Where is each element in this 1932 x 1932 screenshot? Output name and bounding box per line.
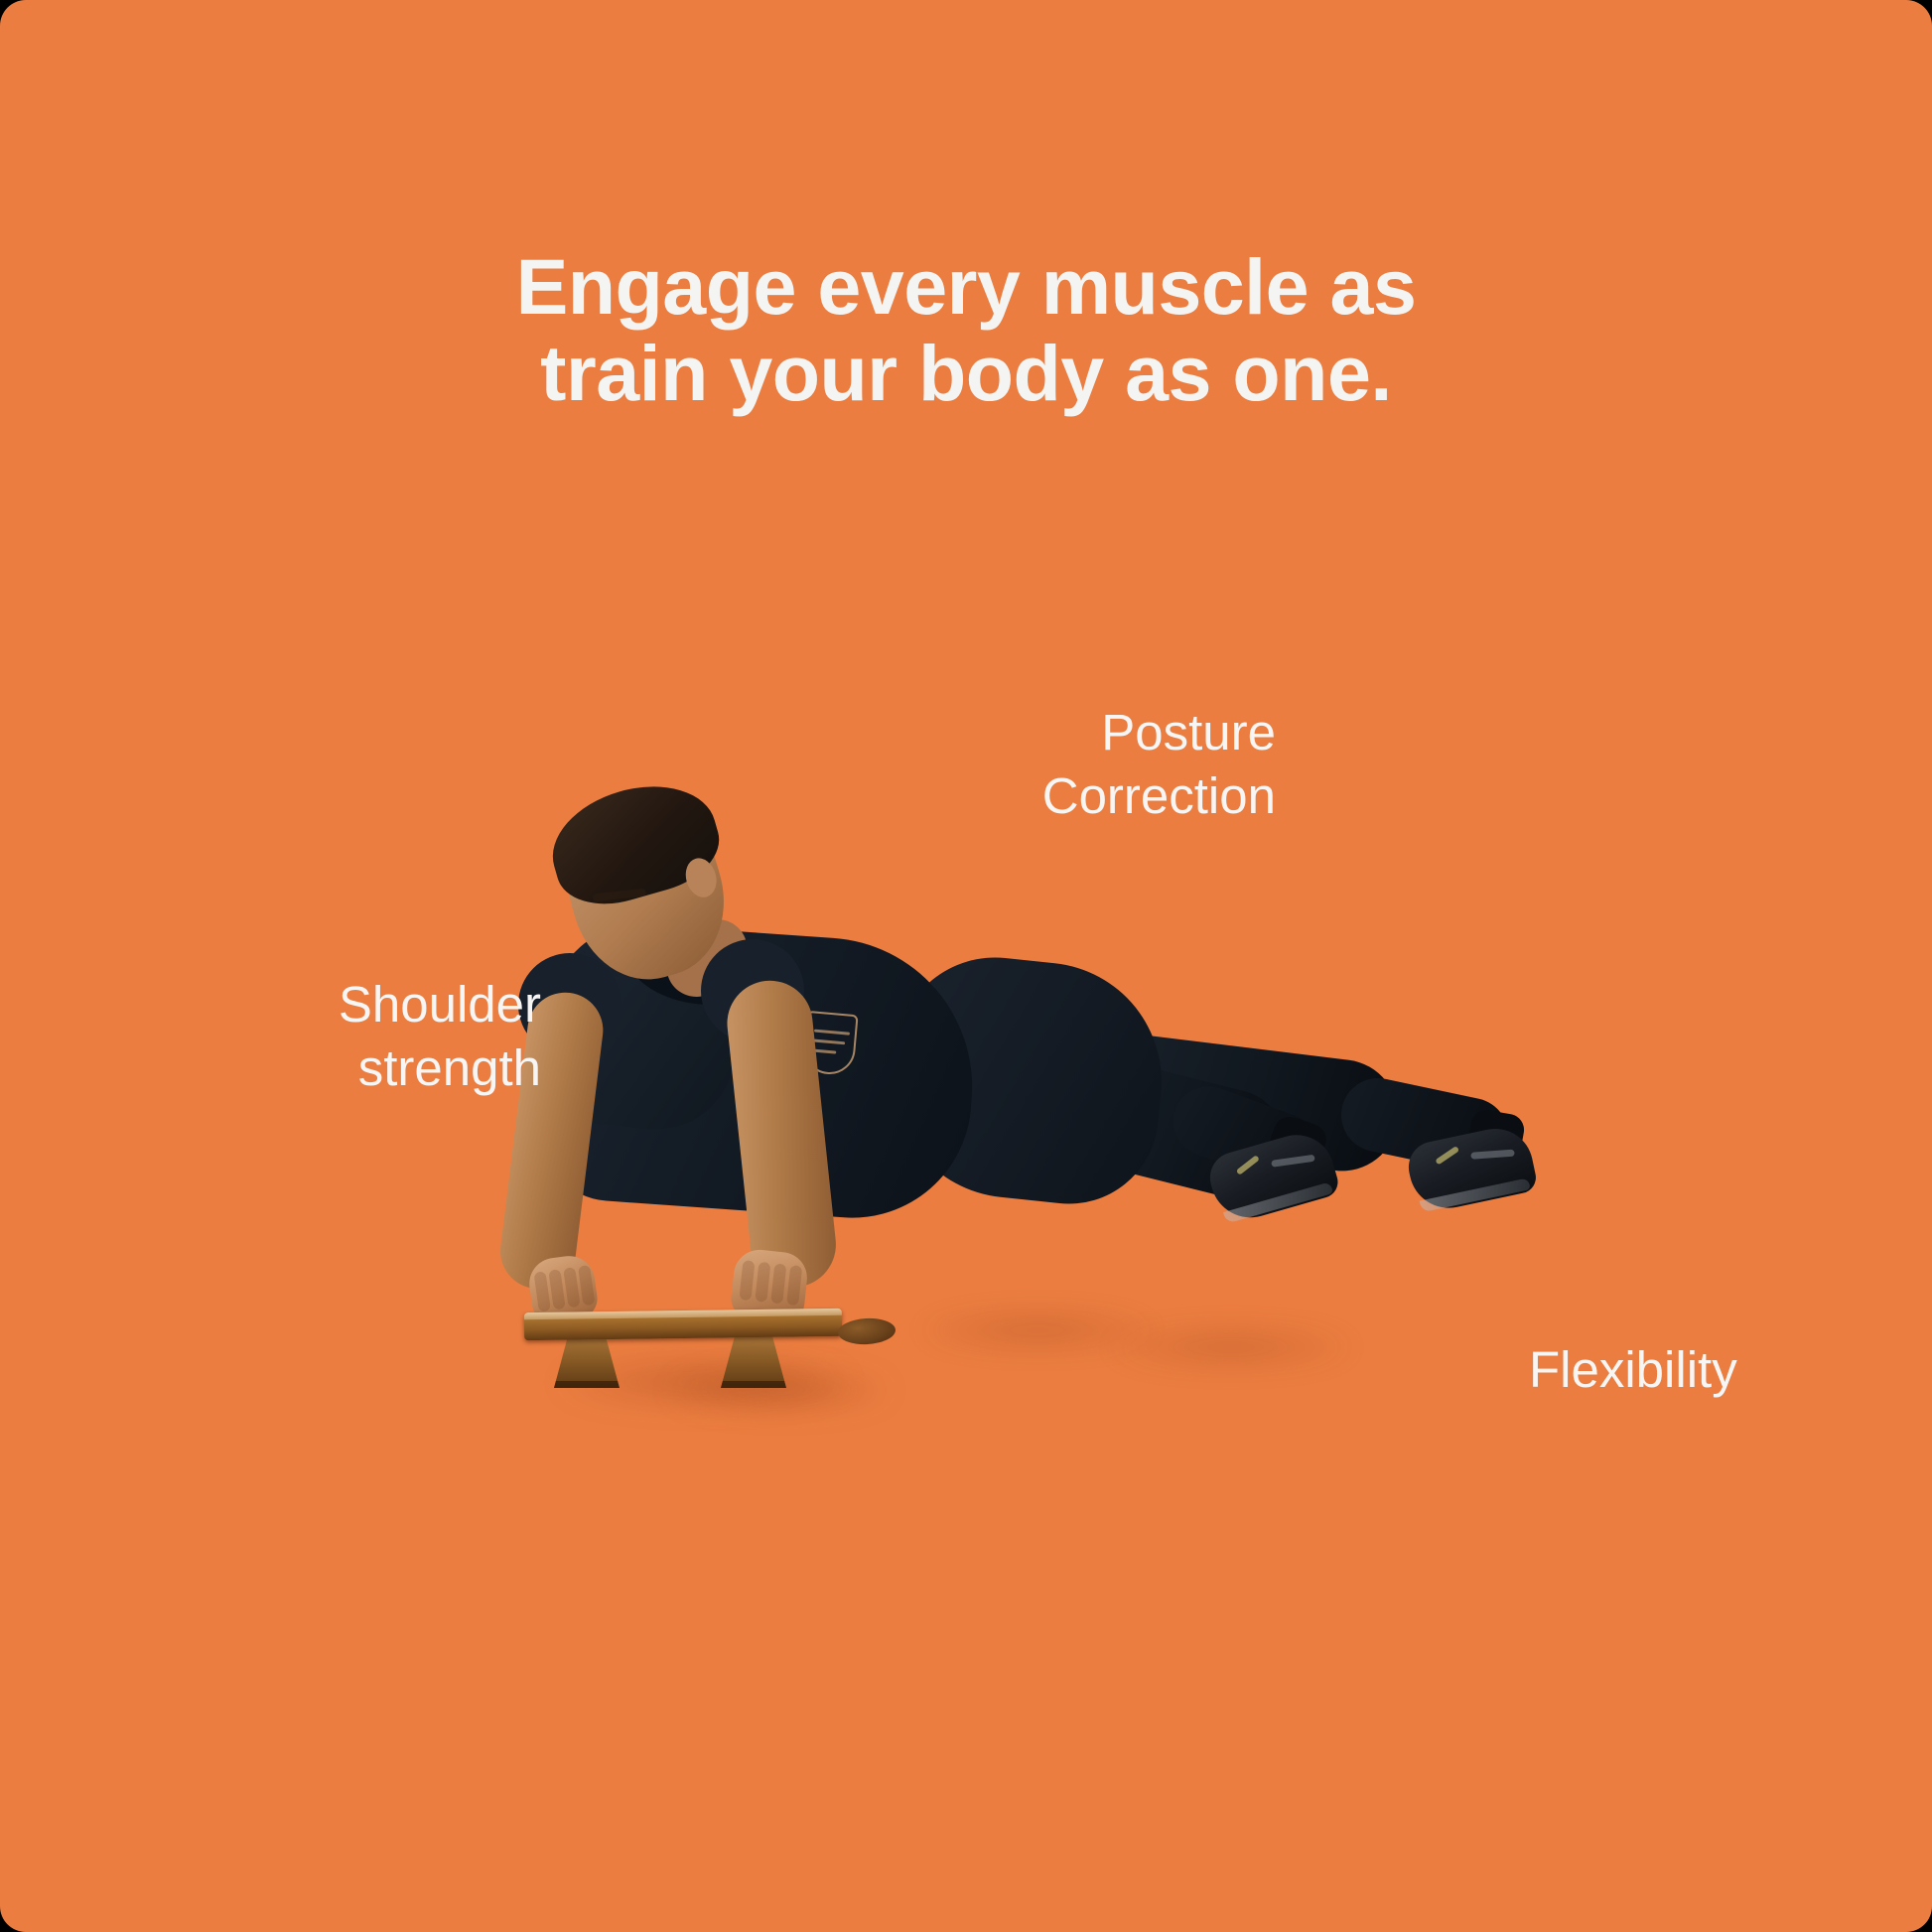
bar-plank: [524, 1309, 842, 1340]
foot-ground-shadow-right: [1102, 1325, 1360, 1369]
bar-end-knob: [837, 1317, 896, 1346]
page-title: Engage every muscle as train your body a…: [0, 244, 1932, 417]
shoe-lace-icon: [1236, 1155, 1260, 1175]
feature-label-flexibility: Flexibility: [1529, 1338, 1847, 1402]
shoe-stripe-icon: [1271, 1155, 1315, 1168]
logo-text-line: [814, 1030, 850, 1035]
bar-foot-left: [554, 1334, 620, 1388]
shoe-stripe-icon: [1470, 1150, 1514, 1160]
knuckle: [739, 1260, 755, 1301]
feature-label-shoulder-strength: Shoulder strength: [159, 973, 541, 1100]
feature-label-posture-correction: Posture Correction: [755, 701, 1276, 828]
bar-foot-right: [721, 1334, 786, 1388]
hero-photo: [516, 784, 1519, 1459]
shoe-lace-icon: [1435, 1146, 1459, 1166]
parallette-bar: [516, 1297, 874, 1416]
logo-text-line: [813, 1039, 845, 1045]
poster-canvas: Engage every muscle as train your body a…: [0, 0, 1932, 1932]
